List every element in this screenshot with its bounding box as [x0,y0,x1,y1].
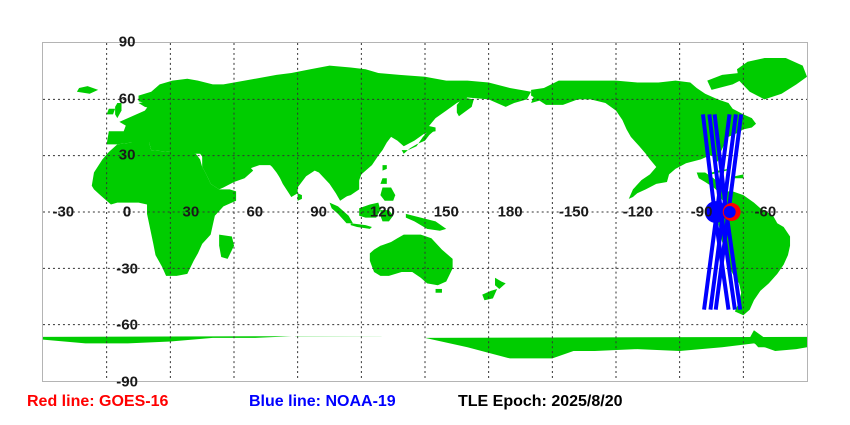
lon-tick--120: -120 [623,205,653,220]
lat-tick-0: 0 [123,205,131,220]
lon-tick--30: -30 [52,205,74,220]
lon-tick--60: -60 [755,205,777,220]
legend-goes16: Red line: GOES-16 [27,391,168,413]
satellite-tracking-map: -300306090120150180-150-120-90-609060300… [0,0,850,425]
lat-tick--60: -60 [116,318,138,333]
legend-tle-epoch: TLE Epoch: 2025/8/20 [458,391,623,413]
lat-tick--90: -90 [116,375,138,390]
legend-noaa19: Blue line: NOAA-19 [249,391,396,413]
lon-tick-120: 120 [370,205,395,220]
lat-tick--30: -30 [116,261,138,276]
map-legend: Red line: GOES-16 Blue line: NOAA-19 TLE… [0,391,850,425]
lon-tick--150: -150 [559,205,589,220]
lon-tick-180: 180 [498,205,523,220]
lon-tick-60: 60 [246,205,263,220]
lat-tick-90: 90 [119,35,136,50]
lon-tick-150: 150 [434,205,459,220]
lon-tick--90: -90 [691,205,713,220]
lon-tick-30: 30 [183,205,200,220]
lat-tick-60: 60 [119,91,136,106]
lon-tick-90: 90 [310,205,327,220]
lat-tick-30: 30 [119,148,136,163]
